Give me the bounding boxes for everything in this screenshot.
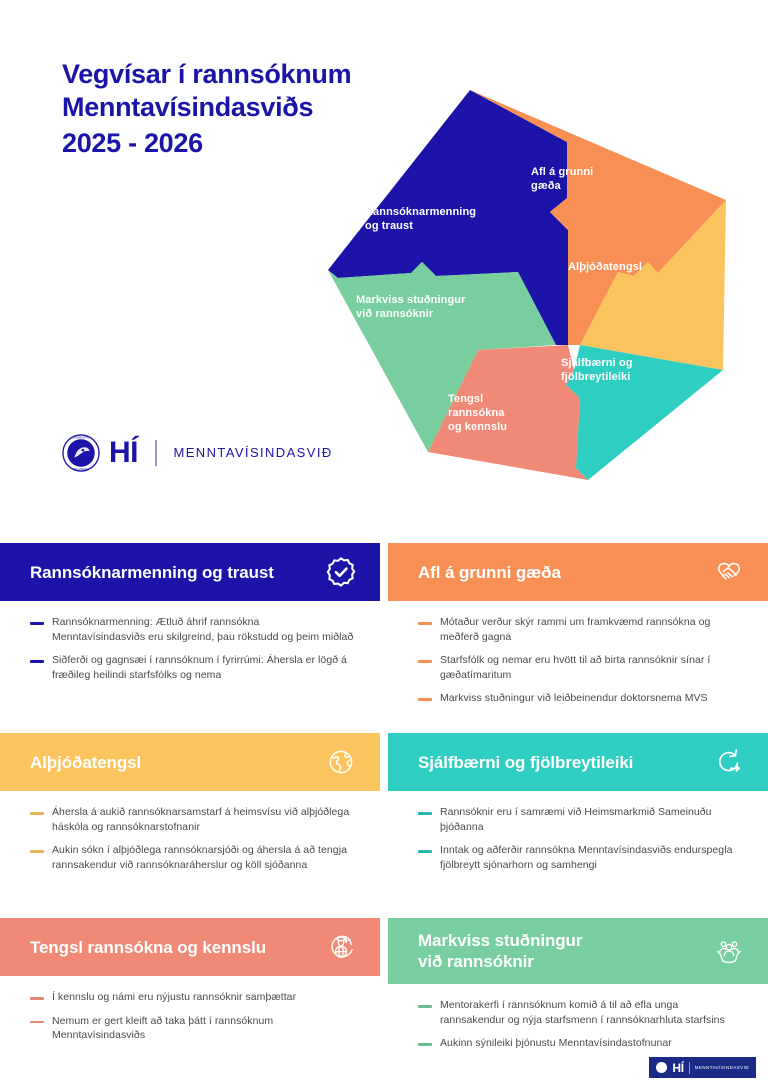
- recycle-arrow-icon: [712, 745, 746, 779]
- card-title: Markviss stuðningurvið rannsóknir: [418, 930, 582, 972]
- bullet-dash-icon: [30, 997, 44, 1000]
- card-header: Tengsl rannsókna og kennslu: [0, 918, 380, 976]
- bullet-text: Siðferði og gagnsæi í rannsóknum í fyrir…: [52, 653, 354, 682]
- list-item: Rannsóknarmenning: Ætluð áhrif rannsókna…: [30, 615, 354, 644]
- hero-section: Vegvísar í rannsóknum Menntavísindasviðs…: [0, 0, 768, 528]
- bullet-text: Markviss stuðningur við leiðbeinendur do…: [440, 691, 708, 706]
- list-item: Markviss stuðningur við leiðbeinendur do…: [418, 691, 742, 706]
- list-item: Starfsfólk og nemar eru hvött til að bir…: [418, 653, 742, 682]
- bullet-text: Mentorakerfi í rannsóknum komið á til að…: [440, 998, 742, 1027]
- card-rannsoknarmenning-og-traust: Rannsóknarmenning og traust Rannsóknarme…: [0, 528, 380, 718]
- bullet-text: Nemum er gert kleift að taka þátt í rann…: [52, 1014, 354, 1043]
- bullet-dash-icon: [418, 1005, 432, 1008]
- bullet-dash-icon: [30, 850, 44, 853]
- bullet-text: Rannsóknir eru í samræmi við Heimsmarkmi…: [440, 805, 742, 834]
- handshake-heart-icon: [712, 555, 746, 589]
- card-header: Sjálfbærni og fjölbreytileiki: [388, 733, 768, 791]
- svg-text:UNIVERSITAS: UNIVERSITAS: [72, 435, 91, 439]
- bullet-text: Áhersla á aukið rannsóknarsamstarf á hei…: [52, 805, 354, 834]
- card-header: Rannsóknarmenning og traust: [0, 543, 380, 601]
- list-item: Inntak og aðferðir rannsókna Menntavísin…: [418, 843, 742, 872]
- strategy-card-grid: Rannsóknarmenning og traust Rannsóknarme…: [0, 528, 768, 1086]
- bullet-text: Aukin sókn í alþjóðlega rannsóknarsjóði …: [52, 843, 354, 872]
- bullet-text: Rannsóknarmenning: Ætluð áhrif rannsókna…: [52, 615, 354, 644]
- pinwheel-diagram: Rannsóknarmenningog traust Afl á grunnig…: [318, 80, 738, 490]
- card-title: Rannsóknarmenning og traust: [30, 562, 274, 583]
- card-bullet-list: Rannsóknarmenning: Ætluð áhrif rannsókna…: [0, 601, 380, 682]
- bullet-dash-icon: [30, 812, 44, 815]
- logo-mark: HÍ: [109, 438, 138, 468]
- footer-divider: [689, 1062, 690, 1074]
- card-tengsl-rannsokna-og-kennslu: Tengsl rannsókna og kennslu: [0, 903, 380, 1086]
- bullet-dash-icon: [418, 1043, 432, 1046]
- list-item: Í kennslu og námi eru nýjustu rannsóknir…: [30, 990, 354, 1005]
- university-seal-icon: [656, 1062, 667, 1073]
- bullet-dash-icon: [418, 698, 432, 701]
- graduation-globe-icon: [324, 930, 358, 964]
- logo-divider: [155, 440, 157, 466]
- footer-logo-mark: HÍ: [672, 1062, 683, 1074]
- bullet-text: Í kennslu og námi eru nýjustu rannsóknir…: [52, 990, 296, 1005]
- bullet-text: Starfsfólk og nemar eru hvött til að bir…: [440, 653, 742, 682]
- pinwheel-svg: [318, 80, 738, 490]
- list-item: Aukin sókn í alþjóðlega rannsóknarsjóði …: [30, 843, 354, 872]
- hi-logo: UNIVERSITAS ISLANDIAE HÍ MENNTAVÍSINDASV…: [62, 434, 333, 472]
- infographic-page: Vegvísar í rannsóknum Menntavísindasviðs…: [0, 0, 768, 1086]
- svg-text:ISLANDIAE: ISLANDIAE: [74, 467, 89, 471]
- card-afl-a-grunni-gaeda: Afl á grunni gæða Mótaður verður skýr: [388, 528, 768, 718]
- card-title: Afl á grunni gæða: [418, 562, 561, 583]
- card-sjalfbaerni-og-fjolbreytileiki: Sjálfbærni og fjölbreytileiki Rannsóknir…: [388, 718, 768, 903]
- list-item: Siðferði og gagnsæi í rannsóknum í fyrir…: [30, 653, 354, 682]
- bullet-dash-icon: [30, 660, 44, 663]
- bullet-text: Aukinn sýnileiki þjónustu Menntavísindas…: [440, 1036, 672, 1051]
- card-bullet-list: Rannsóknir eru í samræmi við Heimsmarkmi…: [388, 791, 768, 872]
- verified-check-icon: [324, 555, 358, 589]
- card-header: Alþjóðatengsl: [0, 733, 380, 791]
- list-item: Aukinn sýnileiki þjónustu Menntavísindas…: [418, 1036, 742, 1051]
- list-item: Rannsóknir eru í samræmi við Heimsmarkmi…: [418, 805, 742, 834]
- footer-logo-subtitle: MENNTAVÍSINDASVIÐ: [695, 1065, 749, 1071]
- bullet-text: Mótaður verður skýr rammi um framkvæmd r…: [440, 615, 742, 644]
- bullet-dash-icon: [418, 660, 432, 663]
- university-seal-icon: UNIVERSITAS ISLANDIAE: [62, 434, 100, 472]
- list-item: Mentorakerfi í rannsóknum komið á til að…: [418, 998, 742, 1027]
- bullet-dash-icon: [30, 1021, 44, 1024]
- footer-logo-badge: HÍ MENNTAVÍSINDASVIÐ: [649, 1057, 756, 1078]
- card-bullet-list: Mentorakerfi í rannsóknum komið á til að…: [388, 984, 768, 1051]
- bullet-dash-icon: [30, 622, 44, 625]
- card-title: Sjálfbærni og fjölbreytileiki: [418, 752, 633, 773]
- bullet-dash-icon: [418, 622, 432, 625]
- bullet-dash-icon: [418, 850, 432, 853]
- globe-icon: [324, 745, 358, 779]
- card-althjodatengsl: Alþjóðatengsl Áhersla á aukið rannsóknar…: [0, 718, 380, 903]
- hands-supporting-people-icon: [712, 934, 746, 968]
- list-item: Áhersla á aukið rannsóknarsamstarf á hei…: [30, 805, 354, 834]
- card-title: Tengsl rannsókna og kennslu: [30, 937, 266, 958]
- card-header: Markviss stuðningurvið rannsóknir: [388, 918, 768, 984]
- card-bullet-list: Áhersla á aukið rannsóknarsamstarf á hei…: [0, 791, 380, 872]
- card-header: Afl á grunni gæða: [388, 543, 768, 601]
- bullet-dash-icon: [418, 812, 432, 815]
- card-bullet-list: Í kennslu og námi eru nýjustu rannsóknir…: [0, 976, 380, 1043]
- list-item: Mótaður verður skýr rammi um framkvæmd r…: [418, 615, 742, 644]
- card-bullet-list: Mótaður verður skýr rammi um framkvæmd r…: [388, 601, 768, 706]
- bullet-text: Inntak og aðferðir rannsókna Menntavísin…: [440, 843, 742, 872]
- card-title: Alþjóðatengsl: [30, 752, 141, 773]
- logo-subtitle: MENNTAVÍSINDASVIÐ: [174, 445, 333, 461]
- list-item: Nemum er gert kleift að taka þátt í rann…: [30, 1014, 354, 1043]
